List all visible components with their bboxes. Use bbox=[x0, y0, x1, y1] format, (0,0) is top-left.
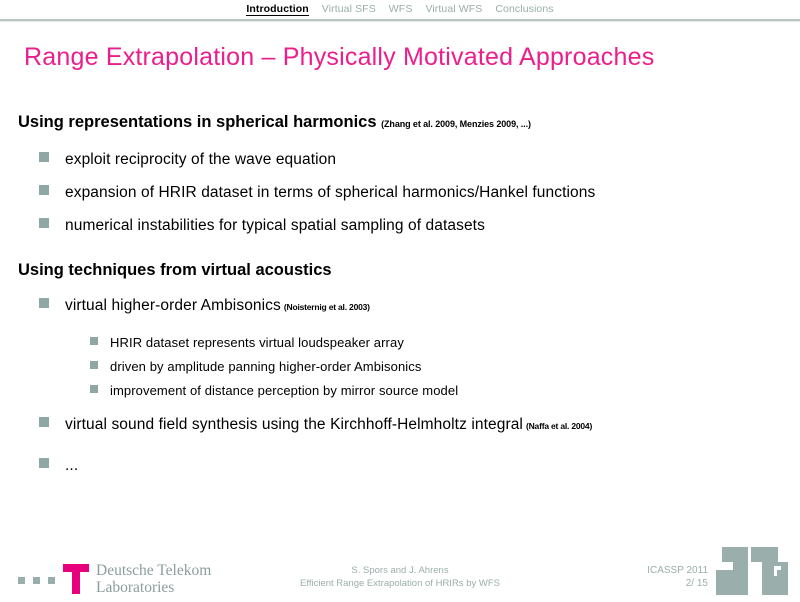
slide-body: Using representations in spherical harmo… bbox=[18, 112, 788, 482]
list-item: virtual sound field synthesis using the … bbox=[18, 408, 788, 443]
footer-conference: ICASSP 2011 bbox=[647, 564, 708, 577]
footer-right: ICASSP 2011 2/ 15 bbox=[647, 564, 708, 590]
square-bullet-icon bbox=[39, 185, 49, 195]
square-bullet-icon bbox=[90, 361, 98, 369]
list-item: numerical instabilities for typical spat… bbox=[18, 209, 788, 242]
section-heading-spherical-harmonics: Using representations in spherical harmo… bbox=[18, 112, 788, 134]
nav-item-introduction[interactable]: Introduction bbox=[246, 3, 308, 16]
navigation-divider-light bbox=[0, 21, 800, 22]
list-item: virtual higher-order Ambisonics(Noistern… bbox=[18, 289, 788, 324]
list-item-text: numerical instabilities for typical spat… bbox=[65, 216, 485, 235]
nav-item-virtual-sfs[interactable]: Virtual SFS bbox=[322, 3, 376, 15]
list-item-label: virtual sound field synthesis using the … bbox=[65, 416, 523, 433]
section-heading-text: Using techniques from virtual acoustics bbox=[18, 261, 332, 279]
section-heading-text: Using representations in spherical harmo… bbox=[18, 113, 377, 131]
nav-item-wfs[interactable]: WFS bbox=[389, 3, 413, 15]
square-bullet-icon bbox=[90, 337, 98, 345]
slide-title: Range Extrapolation – Physically Motivat… bbox=[24, 42, 774, 72]
list-item-citation: (Noisternig et al. 2003) bbox=[284, 302, 370, 312]
footer-page-number: 2/ 15 bbox=[647, 577, 708, 590]
square-bullet-icon bbox=[90, 385, 98, 393]
list-item-text: virtual sound field synthesis using the … bbox=[65, 415, 592, 436]
section-heading-virtual-acoustics: Using techniques from virtual acoustics bbox=[18, 260, 788, 280]
nav-item-conclusions[interactable]: Conclusions bbox=[495, 3, 553, 15]
square-bullet-icon bbox=[39, 298, 49, 308]
list-item-label: virtual higher-order Ambisonics bbox=[65, 297, 281, 314]
square-bullet-icon bbox=[39, 417, 49, 427]
list-item: exploit reciprocity of the wave equation bbox=[18, 143, 788, 176]
section-spacer bbox=[18, 242, 788, 260]
square-bullet-icon bbox=[39, 152, 49, 162]
list-item: expansion of HRIR dataset in terms of sp… bbox=[18, 176, 788, 209]
list-item-text: exploit reciprocity of the wave equation bbox=[65, 150, 336, 169]
square-bullet-icon bbox=[39, 458, 49, 468]
list-item: driven by amplitude panning higher-order… bbox=[18, 354, 788, 378]
list-item-text: expansion of HRIR dataset in terms of sp… bbox=[65, 183, 595, 202]
list-item: HRIR dataset represents virtual loudspea… bbox=[18, 330, 788, 354]
list-item-text: ... bbox=[65, 456, 78, 475]
tu-berlin-logo-icon bbox=[708, 542, 792, 602]
list-item-text: driven by amplitude panning higher-order… bbox=[110, 358, 422, 375]
square-bullet-icon bbox=[39, 218, 49, 228]
section-heading-citation: (Zhang et al. 2009, Menzies 2009, ...) bbox=[381, 119, 531, 129]
slide-footer: Deutsche Telekom Laboratories S. Spors a… bbox=[0, 552, 800, 600]
list-item-text: virtual higher-order Ambisonics(Noistern… bbox=[65, 296, 370, 317]
list-item: improvement of distance perception by mi… bbox=[18, 378, 788, 402]
list-item-citation: (Naffa et al. 2004) bbox=[526, 421, 592, 431]
list-item-text: HRIR dataset represents virtual loudspea… bbox=[110, 334, 404, 351]
list-item-text: improvement of distance perception by mi… bbox=[110, 382, 458, 399]
list-item: ... bbox=[18, 449, 788, 482]
nav-item-virtual-wfs[interactable]: Virtual WFS bbox=[425, 3, 482, 15]
top-navigation: Introduction Virtual SFS WFS Virtual WFS… bbox=[0, 0, 800, 18]
